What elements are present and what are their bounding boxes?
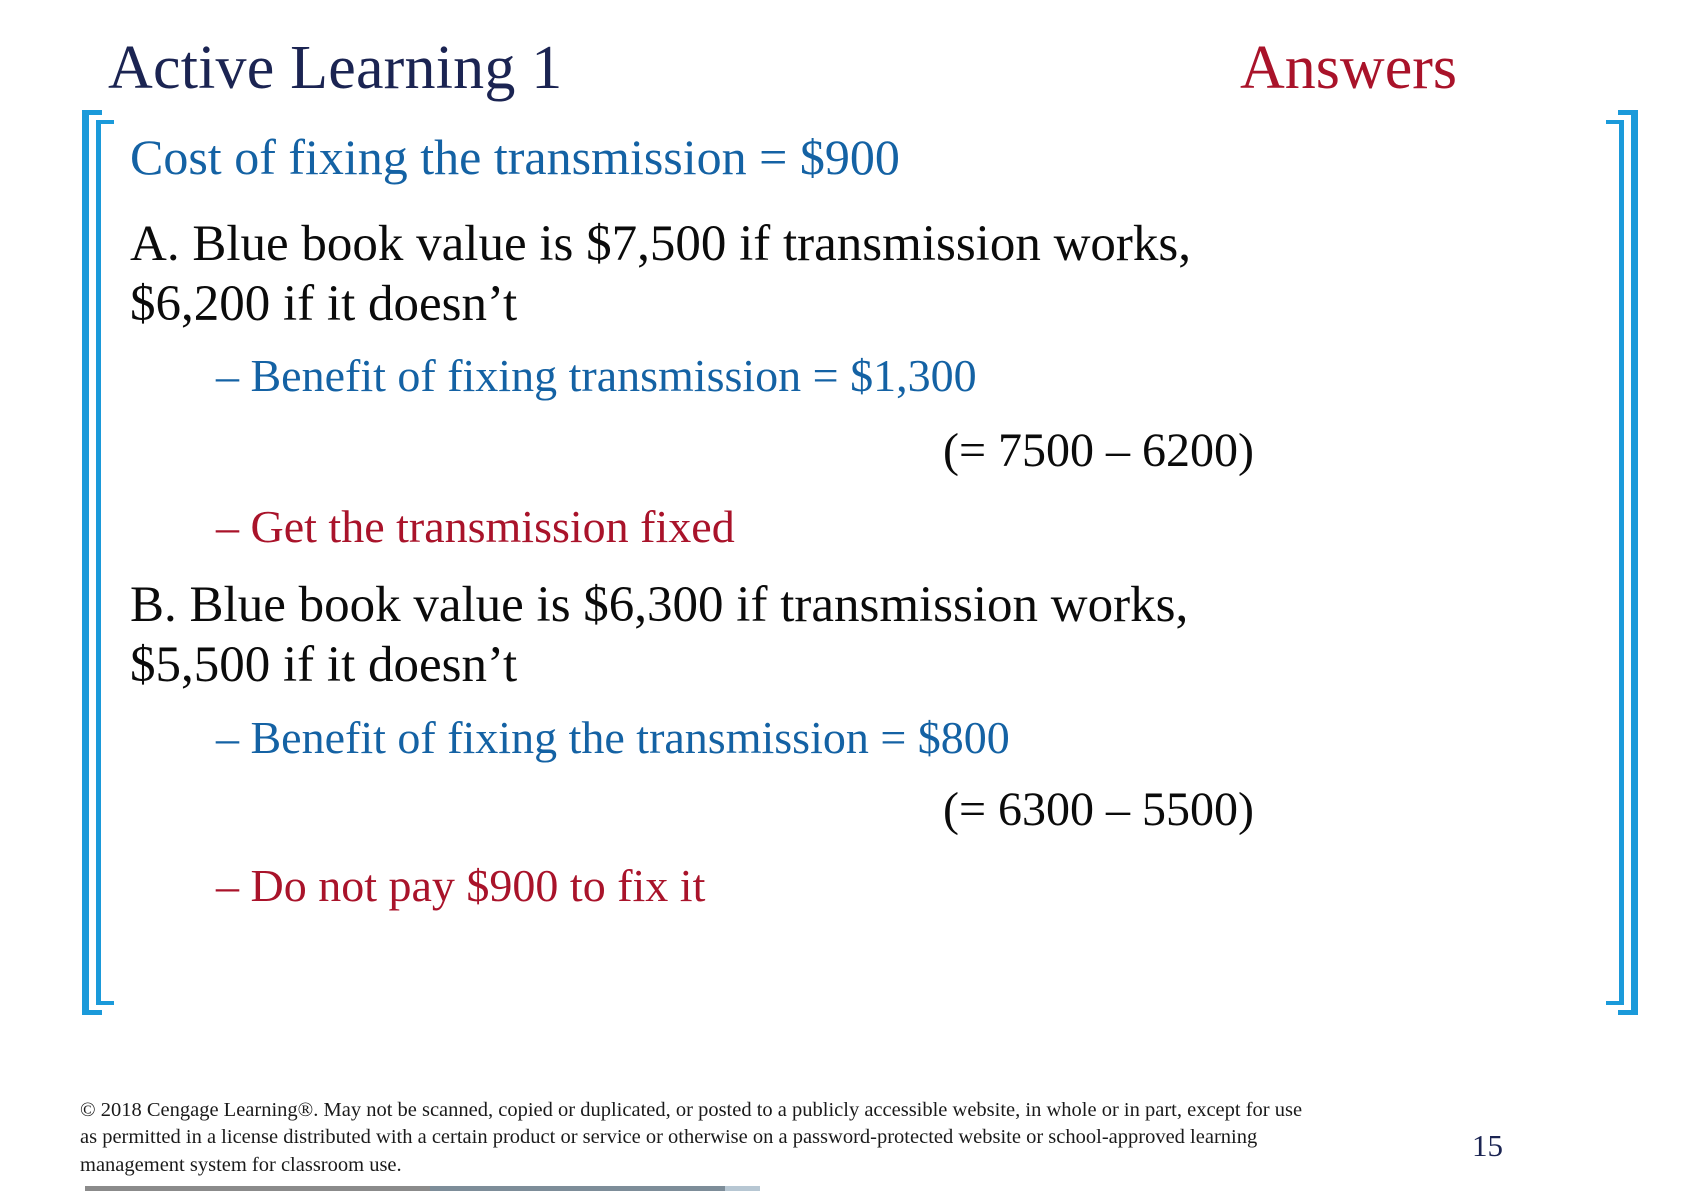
page-title: Active Learning 1	[108, 36, 562, 101]
slide: Active Learning 1 Answers Cost of fixing…	[0, 0, 1685, 1191]
answers-label: Answers	[1240, 36, 1457, 101]
copyright-line-2: as permitted in a license distributed wi…	[80, 1124, 1370, 1151]
part-b-calculation: (= 6300 – 5500)	[130, 781, 1550, 839]
part-a-calculation: (= 7500 – 6200)	[130, 422, 1550, 480]
part-a-benefit-bullet: – Benefit of fixing transmission = $1,30…	[130, 348, 1550, 403]
copyright-footer: © 2018 Cengage Learning®. May not be sca…	[80, 1097, 1370, 1179]
part-b-benefit-bullet: – Benefit of fixing the transmission = $…	[130, 710, 1550, 765]
part-a-premise-line-2: $6,200 if it doesn’t	[130, 275, 1550, 335]
part-b-premise-line-2: $5,500 if it doesn’t	[130, 636, 1550, 696]
part-a-conclusion-bullet: – Get the transmission fixed	[130, 499, 1550, 554]
left-bracket-inner	[96, 120, 114, 1005]
part-a-premise-line-1: A. Blue book value is $7,500 if transmis…	[130, 215, 1550, 275]
right-bracket-inner	[1606, 120, 1624, 1005]
part-b-conclusion-bullet: – Do not pay $900 to fix it	[130, 858, 1550, 913]
part-b-premise-line-1: B. Blue book value is $6,300 if transmis…	[130, 576, 1550, 636]
copyright-line-1: © 2018 Cengage Learning®. May not be sca…	[80, 1097, 1370, 1124]
left-bracket-decoration	[82, 110, 118, 1015]
copyright-line-3: management system for classroom use.	[80, 1152, 1370, 1179]
bottom-edge-artifact-secondary	[430, 1186, 760, 1191]
page-number: 15	[1472, 1128, 1503, 1164]
slide-body: Cost of fixing the transmission = $900 A…	[130, 128, 1550, 914]
right-bracket-decoration	[1602, 110, 1638, 1015]
cost-of-fixing-line: Cost of fixing the transmission = $900	[130, 128, 1550, 187]
